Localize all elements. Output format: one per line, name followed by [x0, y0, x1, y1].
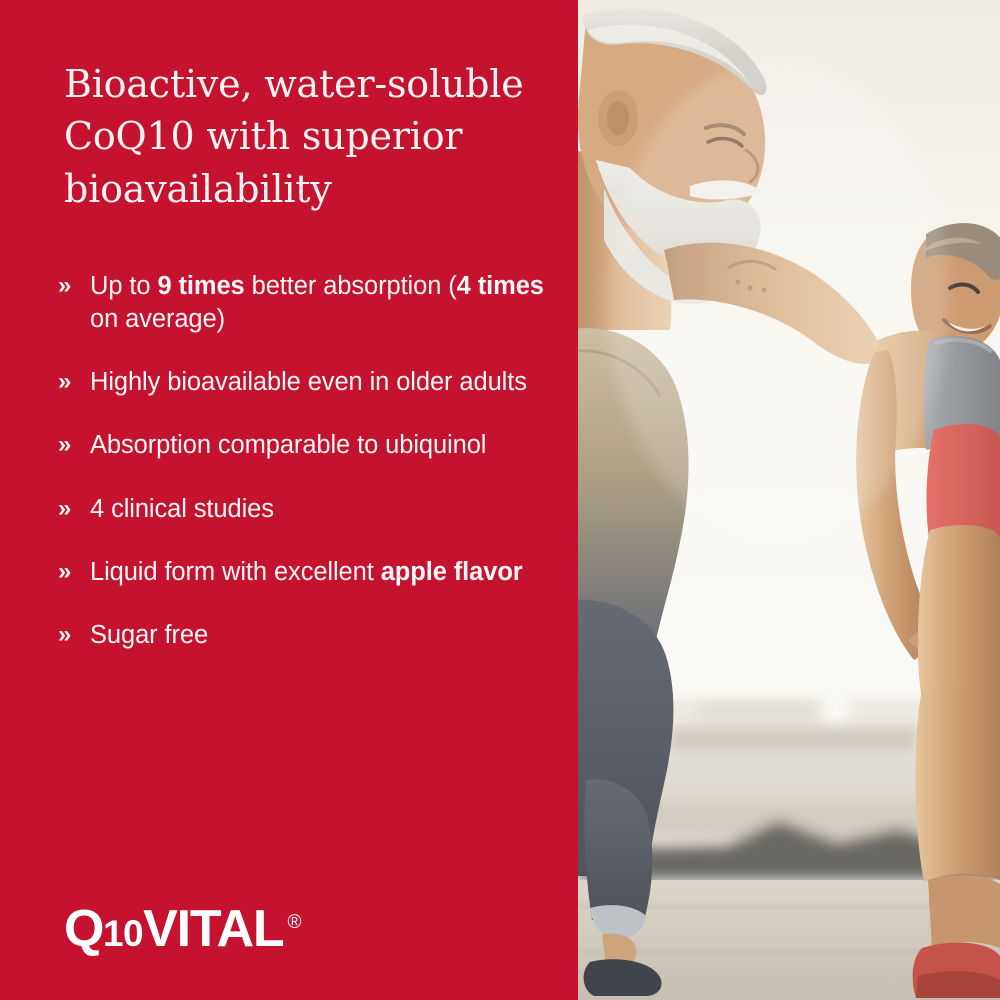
headline-line-2: CoQ10 with superior	[64, 110, 564, 162]
benefit-list-item: »Sugar free	[58, 619, 568, 652]
logo-number-10: 10	[103, 913, 143, 954]
headline-line-1: Bioactive, water-soluble	[64, 58, 564, 110]
headline-line-3: bioavailability	[64, 163, 564, 215]
page-title: Bioactive, water-soluble CoQ10 with supe…	[64, 58, 564, 215]
benefit-list-item-label: Highly bioavailable even in older adults	[90, 368, 527, 396]
photo-highlight-bloom	[608, 60, 948, 540]
benefit-list-item: »Absorption comparable to ubiquinol	[58, 429, 568, 462]
registered-trademark-icon: ®	[287, 912, 301, 933]
benefit-list-item: »Liquid form with excellent apple flavor	[58, 556, 568, 589]
benefit-list-item-label: Sugar free	[90, 621, 208, 649]
benefit-list-item: »4 clinical studies	[58, 493, 568, 526]
double-chevron-right-icon: »	[58, 493, 71, 524]
double-chevron-right-icon: »	[58, 556, 71, 587]
logo-letter-q: Q	[64, 900, 103, 958]
infographic-canvas: Bioactive, water-soluble CoQ10 with supe…	[0, 0, 1000, 1000]
double-chevron-right-icon: »	[58, 429, 71, 460]
brand-logo: Q10VITAL®	[64, 903, 297, 955]
benefit-list-item-label: Liquid form with excellent apple flavor	[90, 558, 523, 586]
logo-word-vital: VITAL	[143, 900, 283, 958]
benefit-list-item-label: Absorption comparable to ubiquinol	[90, 431, 486, 459]
double-chevron-right-icon: »	[58, 366, 71, 397]
double-chevron-right-icon: »	[58, 270, 71, 301]
lifestyle-photograph	[578, 0, 1000, 1000]
photo-illustration	[578, 0, 1000, 1000]
double-chevron-right-icon: »	[58, 619, 71, 650]
benefit-list-item-label: Up to 9 times better absorption (4 times…	[90, 272, 544, 333]
benefit-list: »Up to 9 times better absorption (4 time…	[58, 270, 568, 652]
benefit-list-item-label: 4 clinical studies	[90, 495, 274, 523]
benefit-list-item: »Highly bioavailable even in older adult…	[58, 366, 568, 399]
red-content-panel: Bioactive, water-soluble CoQ10 with supe…	[0, 0, 578, 1000]
benefit-list-item: »Up to 9 times better absorption (4 time…	[58, 270, 568, 336]
